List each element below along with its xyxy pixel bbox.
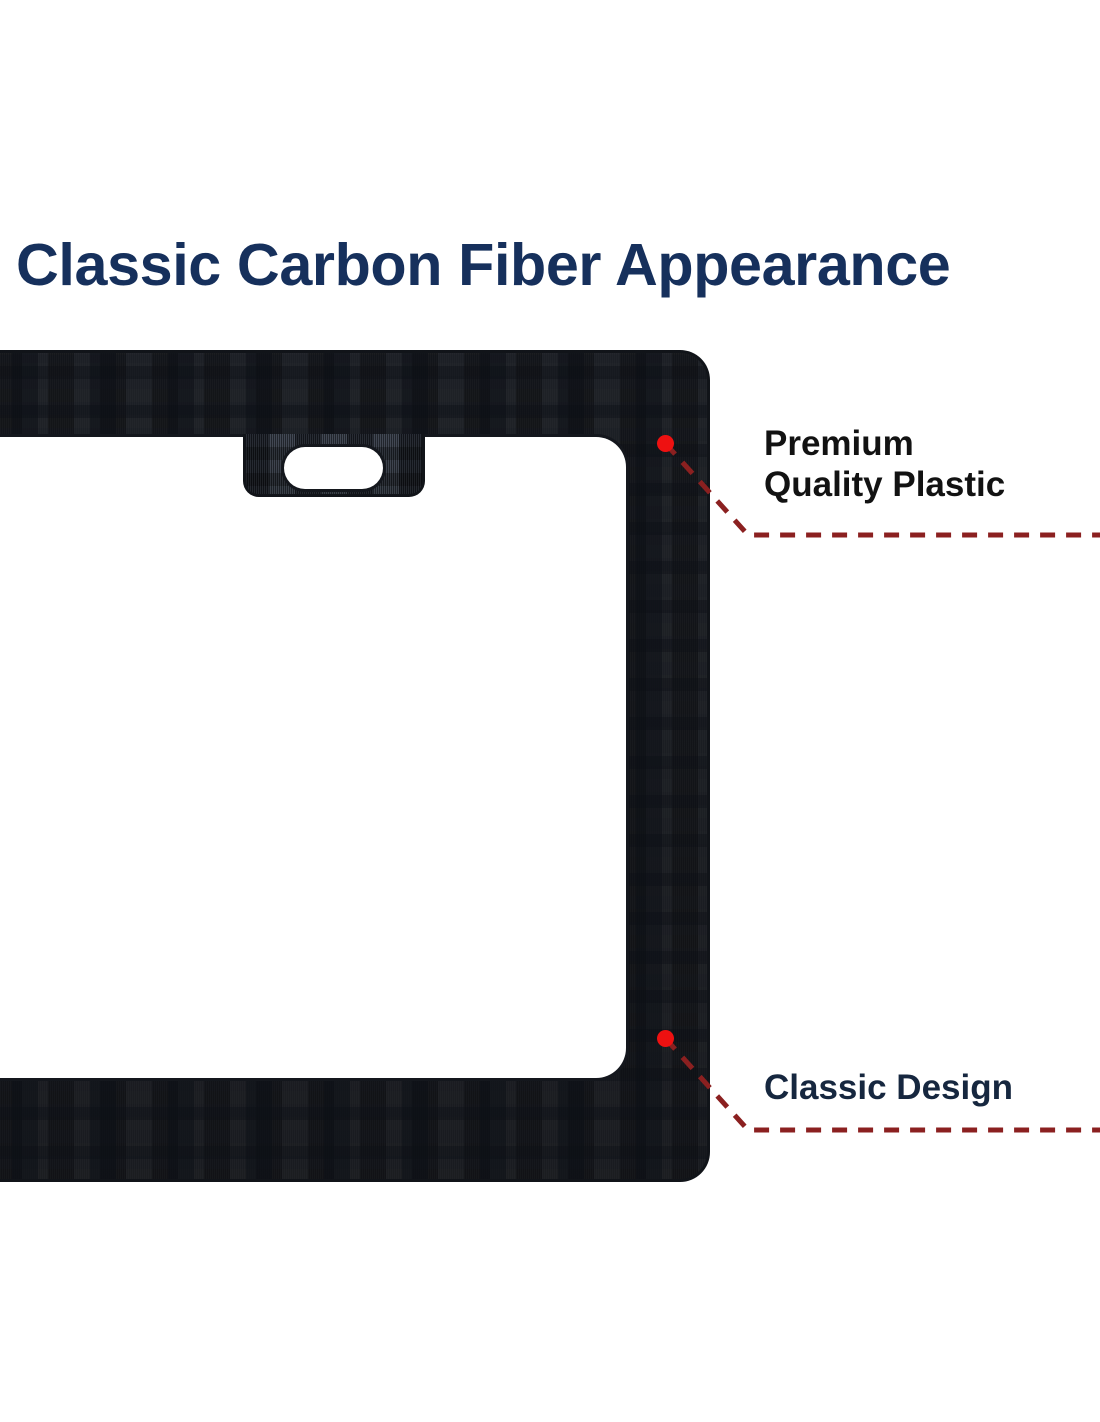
mounting-slot-hole — [284, 447, 383, 489]
product-feature-image: Classic Carbon Fiber Appearance Premium … — [0, 0, 1100, 1422]
frame-inner-window-cutout — [0, 437, 626, 1078]
license-plate-frame — [0, 350, 710, 1182]
callout-marker-dot-premium-quality-plastic — [657, 435, 674, 452]
callout-marker-dot-classic-design — [657, 1030, 674, 1047]
page-title: Classic Carbon Fiber Appearance — [16, 228, 1093, 302]
callout-label-classic-design: Classic Design — [764, 1068, 1013, 1109]
callout-label-premium-quality-plastic: Premium Quality Plastic — [764, 424, 1005, 505]
